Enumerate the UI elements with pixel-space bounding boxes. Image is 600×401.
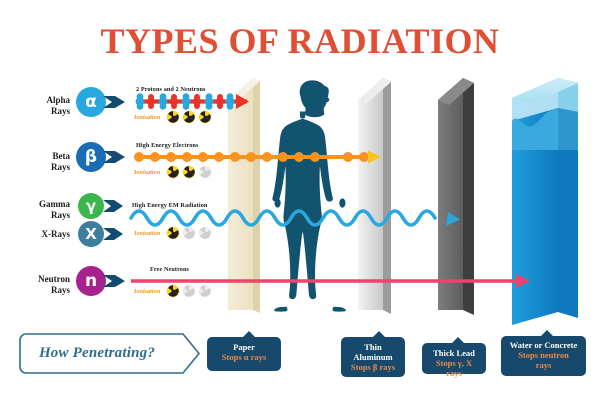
barrier-label-paper[interactable]: Paper Stops α rays — [207, 337, 281, 371]
symbol-xray[interactable]: X — [78, 221, 104, 247]
desc-beta: High Energy Electrons — [136, 142, 199, 149]
barrier-water — [512, 78, 578, 325]
ray-label-gamma-line1: Gamma — [8, 199, 70, 210]
barrier-lead-stops: Stops γ, X rays — [428, 358, 480, 378]
barrier-paper-stops: Stops α rays — [213, 352, 275, 362]
barrier-paper-name: Paper — [213, 342, 275, 352]
barrier-aluminum-name-line2: Aluminum — [347, 352, 399, 362]
ionisation-label-neutron: Ionisation — [134, 288, 160, 295]
desc-alpha: 2 Protons and 2 Neutrons — [136, 86, 206, 93]
ray-label-alpha: Alpha Rays — [8, 95, 70, 116]
symbol-alpha[interactable]: α — [76, 87, 106, 117]
desc-gamma: High Energy EM Radiation — [132, 202, 207, 209]
barrier-aluminum-name-line1: Thin — [347, 342, 399, 352]
barrier-water-stops-line2: rays — [504, 360, 583, 370]
barrier-label-water[interactable]: Water or Concrete Stops neutron rays — [501, 336, 586, 376]
ray-label-xray-line1: X-Rays — [8, 229, 70, 240]
ionisation-label-beta: Ionisation — [134, 169, 160, 176]
infographic-canvas: TYPES OF RADIATION — [0, 0, 600, 401]
barrier-aluminum — [358, 78, 391, 314]
beam-alpha — [136, 93, 249, 110]
barrier-paper — [228, 78, 260, 313]
ionisation-label-gamma: Ionisation — [134, 230, 160, 237]
barrier-label-lead[interactable]: Thick Lead Stops γ, X rays — [422, 343, 486, 374]
symbol-gamma[interactable]: γ — [78, 193, 104, 219]
how-penetrating-banner: How Penetrating? — [22, 333, 194, 373]
barrier-label-aluminum[interactable]: Thin Aluminum Stops β rays — [341, 337, 405, 377]
barrier-aluminum-stops: Stops β rays — [347, 362, 399, 372]
symbol-beta[interactable]: β — [76, 142, 106, 172]
how-penetrating-label: How Penetrating? — [22, 333, 172, 373]
barrier-lead-name: Thick Lead — [428, 348, 480, 358]
ray-label-beta: Beta Rays — [8, 151, 70, 172]
ray-label-beta-line1: Beta — [8, 151, 70, 162]
barrier-water-stops-line1: Stops neutron — [504, 350, 583, 360]
ray-label-beta-line2: Rays — [8, 162, 70, 173]
ray-label-gamma: Gamma Rays — [8, 199, 70, 220]
symbol-neutron[interactable]: n — [76, 266, 106, 296]
ray-label-neutron-line2: Rays — [8, 285, 70, 296]
human-silhouette — [272, 80, 345, 311]
ionisation-label-alpha: Ionisation — [134, 114, 160, 121]
ray-label-xray: X-Rays — [8, 229, 70, 240]
desc-neutron: Free Neutrons — [150, 266, 189, 273]
ray-label-neutron-line1: Neutron — [8, 274, 70, 285]
barrier-water-name: Water or Concrete — [504, 340, 583, 350]
ray-label-gamma-line2: Rays — [8, 210, 70, 221]
ray-label-neutron: Neutron Rays — [8, 274, 70, 295]
ray-label-alpha-line2: Rays — [8, 106, 70, 117]
ray-label-alpha-line1: Alpha — [8, 95, 70, 106]
